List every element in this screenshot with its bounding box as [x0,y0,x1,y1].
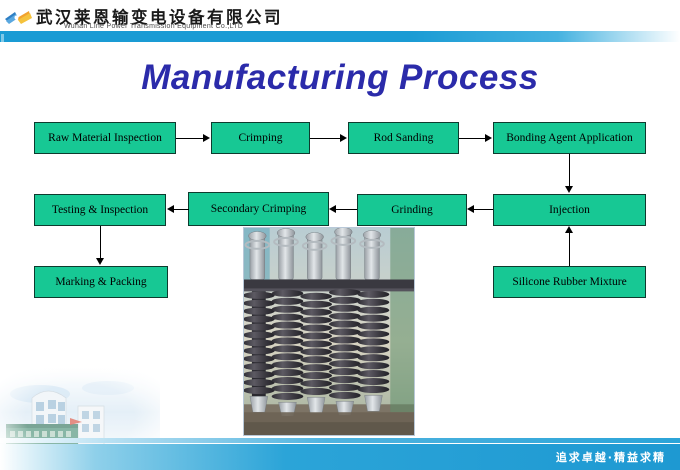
flow-node-rod-sanding[interactable]: Rod Sanding [348,122,459,154]
flow-node-raw-material-inspection[interactable]: Raw Material Inspection [34,122,176,154]
flow-node-bonding-agent-application[interactable]: Bonding Agent Application [493,122,646,154]
page-footer: 追求卓越·精益求精 [0,444,680,470]
arrowhead-bonding-to-injection [565,186,573,193]
connector-testing-to-marking [100,226,101,259]
header-divider-bar [0,31,680,42]
arrowhead-secondary-to-testing [167,205,174,213]
flow-node-silicone-rubber-mixture[interactable]: Silicone Rubber Mixture [493,266,646,298]
company-logo-icon [4,8,34,28]
header-bar-accent-tick [1,34,4,42]
flow-node-marking-packing[interactable]: Marking & Packing [34,266,168,298]
arrowhead-grinding-to-secondary [329,205,336,213]
arrowhead-injection-to-grinding [467,205,474,213]
arrowhead-crimping-to-rod-sanding [340,134,347,142]
insulator-stack-illustration [244,228,414,435]
flow-node-grinding[interactable]: Grinding [357,194,467,226]
flow-node-testing-inspection[interactable]: Testing & Inspection [34,194,166,226]
page-header: 武汉莱恩输变电设备有限公司 Wuhan Line Power Transmiss… [0,0,680,42]
connector-secondary-to-testing [174,209,189,210]
arrowhead-raw-to-crimping [203,134,210,142]
connector-crimping-to-rod-sanding [310,138,341,139]
arrowhead-rod-sanding-to-bonding [485,134,492,142]
connector-raw-to-crimping [176,138,204,139]
flow-node-injection[interactable]: Injection [493,194,646,226]
flow-node-secondary-crimping[interactable]: Secondary Crimping [188,192,329,226]
arrowhead-testing-to-marking [96,258,104,265]
flow-node-crimping[interactable]: Crimping [211,122,310,154]
footer-accent-bar [0,438,680,443]
connector-rod-sanding-to-bonding [459,138,486,139]
connector-bonding-to-injection [569,154,570,187]
connector-silicone-to-injection [569,233,570,266]
product-photo-insulators [243,227,415,436]
connector-injection-to-grinding [474,209,493,210]
page-title: Manufacturing Process [0,58,680,98]
connector-grinding-to-secondary [336,209,357,210]
company-name-english: Wuhan Line Power Transmission Equipment … [64,23,243,30]
arrowhead-silicone-to-injection [565,226,573,233]
footer-slogan: 追求卓越·精益求精 [556,449,666,465]
